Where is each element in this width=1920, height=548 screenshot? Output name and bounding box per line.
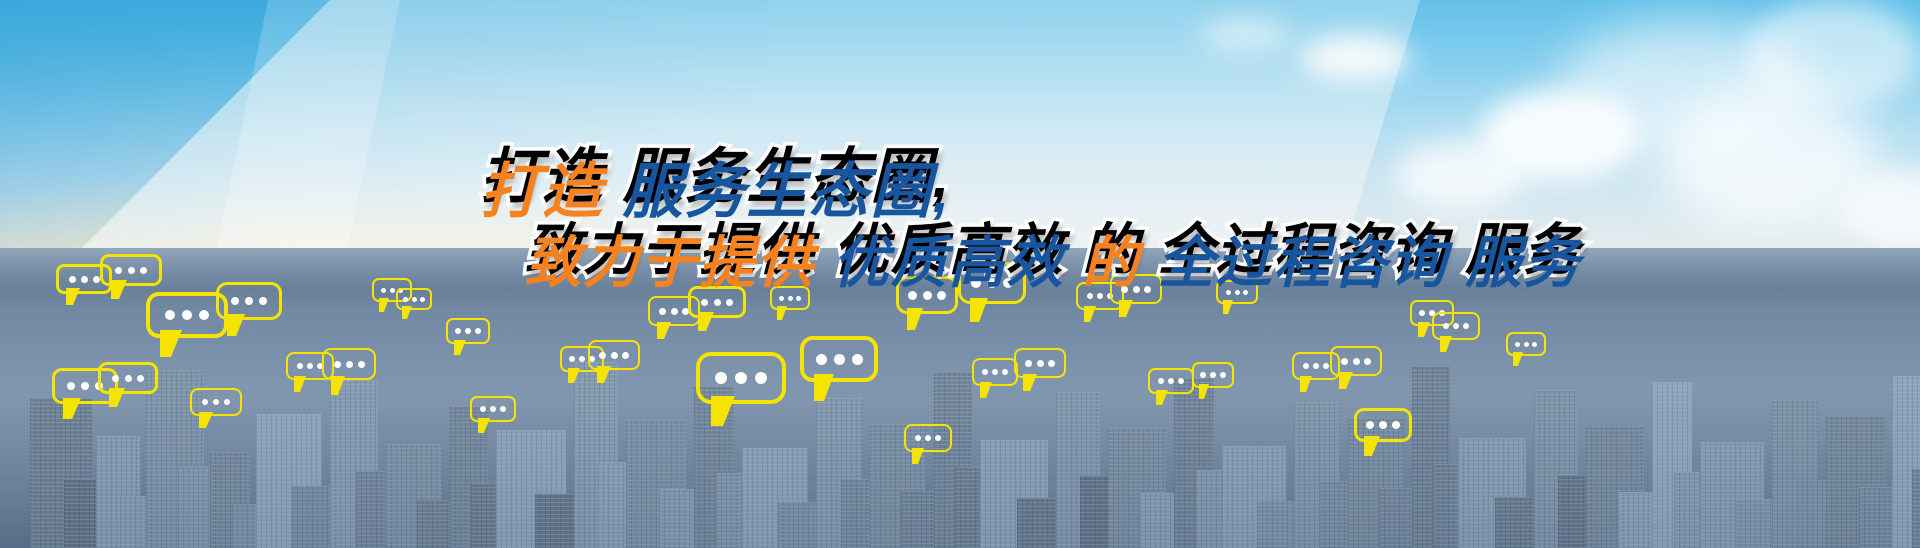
speech-bubble-32 bbox=[1354, 408, 1412, 442]
speech-bubble-dot bbox=[1379, 421, 1387, 429]
headline-line2-blue-b: 全过程咨询 全过程咨询 bbox=[1158, 218, 1466, 281]
speech-bubble-tail bbox=[331, 376, 345, 395]
speech-bubble-13 bbox=[470, 396, 516, 422]
speech-bubble-dot bbox=[1323, 363, 1329, 369]
speech-bubble-dot bbox=[599, 352, 606, 359]
speech-bubble-tail bbox=[1023, 374, 1037, 391]
speech-bubble-31 bbox=[1330, 346, 1382, 376]
speech-bubble-tail bbox=[294, 376, 306, 392]
speech-bubble-tail bbox=[814, 374, 834, 401]
speech-bubble-dot bbox=[915, 435, 921, 441]
headline-line1-blue: 服务生态圈, 服务生态圈, bbox=[623, 143, 952, 210]
speech-bubble-tail bbox=[63, 398, 81, 419]
speech-bubble-7 bbox=[190, 388, 242, 416]
speech-bubble-dot bbox=[735, 372, 747, 384]
speech-bubble-25 bbox=[1014, 348, 1066, 378]
speech-bubble-dot bbox=[1210, 372, 1216, 378]
speech-bubble-29 bbox=[1192, 362, 1234, 388]
speech-bubble-dot bbox=[1002, 369, 1008, 375]
speech-bubble-tail bbox=[1339, 372, 1353, 389]
speech-bubble-dot bbox=[213, 399, 219, 405]
headline-line2-orange-a: 致力于提供 致力于提供 bbox=[525, 218, 833, 281]
speech-bubble-dot bbox=[816, 354, 827, 365]
speech-bubble-tail bbox=[454, 340, 466, 355]
hero-banner: 打造 打造 服务生态圈, 服务生态圈, 致力于提供 致力于提供 优质高效 优质高… bbox=[0, 0, 1920, 548]
speech-bubble-dot bbox=[1353, 358, 1360, 365]
speech-bubble-28 bbox=[1148, 368, 1194, 394]
speech-bubble-dot bbox=[852, 354, 863, 365]
speech-bubble-dot bbox=[334, 361, 341, 368]
speech-bubble-tail bbox=[980, 382, 992, 398]
speech-bubble-6 bbox=[98, 362, 158, 394]
speech-bubble-9 bbox=[322, 348, 376, 380]
speech-bubble-23 bbox=[904, 424, 952, 452]
speech-bubble-dot bbox=[1313, 363, 1319, 369]
speech-bubble-dot bbox=[1048, 360, 1055, 367]
headline-line1-orange: 打造 打造 bbox=[480, 143, 623, 210]
speech-bubble-dot bbox=[297, 363, 303, 369]
speech-bubble-dot bbox=[81, 382, 89, 390]
speech-bubble-dot bbox=[1303, 363, 1309, 369]
speech-bubble-dot bbox=[67, 382, 75, 390]
speech-bubble-dot bbox=[1200, 372, 1206, 378]
headline-line2-blue-a: 优质高效 优质高效 bbox=[833, 218, 1083, 281]
speech-bubble-tail bbox=[711, 396, 735, 426]
speech-bubble-dot bbox=[834, 354, 845, 365]
speech-bubble-dot bbox=[1364, 358, 1371, 365]
speech-bubble-dot bbox=[1341, 358, 1348, 365]
speech-bubble-tail bbox=[1156, 390, 1168, 405]
speech-bubble-dot bbox=[125, 375, 132, 382]
headline-line-2: 致力于提供 致力于提供 优质高效 优质高效 的 的 全过程咨询 全过程咨询 服务… bbox=[525, 205, 1581, 286]
headline-line-1: 打造 打造 服务生态圈, 服务生态圈, bbox=[480, 128, 951, 215]
speech-bubble-dot bbox=[755, 372, 767, 384]
speech-bubble-dot bbox=[982, 369, 988, 375]
speech-bubble-dot bbox=[992, 369, 998, 375]
speech-bubble-36 bbox=[1506, 332, 1546, 356]
speech-bubble-tail bbox=[912, 448, 924, 464]
speech-bubble-dot bbox=[1515, 342, 1520, 347]
speech-bubble-tail bbox=[1199, 384, 1209, 399]
speech-bubble-dot bbox=[715, 372, 727, 384]
speech-bubble-dot bbox=[1037, 360, 1044, 367]
speech-bubble-tail bbox=[1300, 376, 1312, 392]
speech-bubble-dot bbox=[579, 356, 585, 362]
speech-bubble-20 bbox=[800, 336, 878, 382]
headline-line2-orange-b: 的 的 bbox=[1082, 218, 1158, 281]
speech-bubble-dot bbox=[490, 406, 496, 412]
speech-bubble-dot bbox=[1392, 421, 1400, 429]
speech-bubble-15 bbox=[588, 340, 640, 370]
speech-bubble-tail bbox=[1513, 352, 1523, 366]
speech-bubble-tail bbox=[597, 366, 611, 383]
speech-bubble-tail bbox=[199, 412, 213, 428]
speech-bubble-dot bbox=[1168, 378, 1174, 384]
speech-bubble-dot bbox=[1366, 421, 1374, 429]
speech-bubble-tail bbox=[478, 418, 490, 433]
speech-bubble-tail bbox=[1364, 436, 1380, 456]
speech-bubble-dot bbox=[224, 399, 230, 405]
speech-bubble-tail bbox=[1440, 336, 1452, 352]
speech-bubble-dot bbox=[569, 356, 575, 362]
speech-bubble-dot bbox=[1532, 342, 1537, 347]
speech-bubble-dot bbox=[1158, 378, 1164, 384]
speech-bubble-dot bbox=[358, 361, 365, 368]
speech-bubble-dot bbox=[1524, 342, 1529, 347]
speech-bubble-dot bbox=[622, 352, 629, 359]
speech-bubble-dot bbox=[346, 361, 353, 368]
speech-bubble-dot bbox=[137, 375, 144, 382]
headline-block: 打造 打造 服务生态圈, 服务生态圈, 致力于提供 致力于提供 优质高效 优质高… bbox=[0, 0, 1920, 330]
speech-bubble-dot bbox=[1220, 372, 1226, 378]
headline-line2-blue-c: 服务 服务 bbox=[1465, 218, 1581, 281]
speech-bubble-tail bbox=[568, 368, 580, 383]
speech-bubble-dot bbox=[925, 435, 931, 441]
speech-bubble-dot bbox=[307, 363, 313, 369]
speech-bubble-dot bbox=[480, 406, 486, 412]
speech-bubble-tail bbox=[109, 388, 125, 407]
speech-bubble-dot bbox=[500, 406, 506, 412]
speech-bubble-dot bbox=[112, 375, 119, 382]
speech-bubble-tail bbox=[160, 330, 182, 357]
speech-bubble-dot bbox=[935, 435, 941, 441]
speech-bubble-dot bbox=[1178, 378, 1184, 384]
speech-bubble-18 bbox=[696, 352, 786, 404]
speech-bubble-dot bbox=[202, 399, 208, 405]
speech-bubble-dot bbox=[611, 352, 618, 359]
speech-bubble-dot bbox=[1025, 360, 1032, 367]
speech-bubble-24 bbox=[972, 358, 1018, 386]
